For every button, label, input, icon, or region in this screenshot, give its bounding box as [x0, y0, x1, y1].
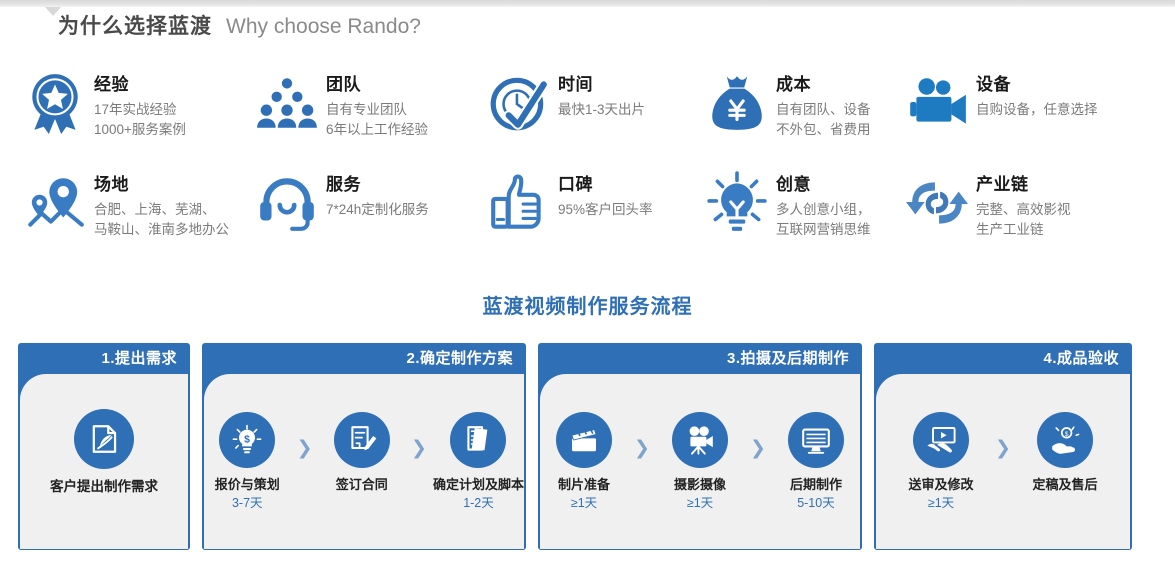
svg-text:$: $	[1065, 431, 1069, 438]
step-node-days: ≥1天	[571, 496, 597, 511]
step-node[interactable]: $ 定稿及售后	[1017, 412, 1113, 512]
money-bag-icon	[704, 70, 770, 136]
page-title-cn: 为什么选择蓝渡	[58, 10, 212, 40]
step-node-days: ≥1天	[928, 496, 954, 511]
svg-text:$: $	[244, 434, 250, 445]
step-node-days: 5-10天	[797, 496, 835, 511]
step-node-days: ≥1天	[687, 496, 713, 511]
headset-icon	[254, 170, 320, 236]
video-camera-icon	[904, 70, 970, 136]
step-node[interactable]: $ 报价与策划 3-7天	[204, 412, 291, 512]
clock-check-icon	[486, 70, 552, 136]
feature-item-industry-chain: 产业链 完整、高效影视 生产工业链	[904, 168, 1170, 264]
step-node[interactable]: 客户提出制作需求	[29, 409, 179, 514]
process-step-2: 2.确定制作方案 $ 报价与策划 3-7天	[202, 343, 526, 550]
feature-title: 场地	[94, 174, 229, 195]
contract-sign-icon	[334, 412, 390, 468]
step-node[interactable]: 送审及修改 ≥1天	[893, 412, 989, 512]
handshake-screen-icon	[913, 412, 969, 468]
feature-item-time: 时间 最快1-3天出片	[486, 68, 704, 168]
feature-item-experience: 经验 17年实战经验 1000+服务案例	[22, 68, 254, 168]
monitor-edit-icon	[788, 412, 844, 468]
feature-text: 服务 7*24h定制化服务	[326, 168, 429, 220]
feature-title: 时间	[558, 74, 645, 95]
feature-item-equipment: 设备 自购设备，任意选择	[904, 68, 1170, 168]
document-pen-icon	[74, 409, 134, 469]
feature-title: 经验	[94, 74, 186, 95]
step-node-label: 制片准备	[558, 477, 610, 494]
feature-desc: 17年实战经验 1000+服务案例	[94, 100, 186, 139]
step-header: 1.提出需求	[19, 344, 189, 374]
feature-grid: 经验 17年实战经验 1000+服务案例 团队 自有专业团队 6年以上工作经验	[22, 68, 1172, 264]
thumbs-up-icon	[486, 170, 552, 236]
feature-desc: 7*24h定制化服务	[326, 200, 429, 220]
feature-text: 设备 自购设备，任意选择	[976, 68, 1098, 120]
feature-title: 创意	[776, 174, 871, 195]
team-group-icon	[254, 70, 320, 136]
flow-section-title: 蓝渡视频制作服务流程	[0, 290, 1175, 319]
feature-title: 团队	[326, 74, 428, 95]
step-node-label: 摄影摄像	[674, 477, 726, 494]
chevron-right-icon: ❯	[634, 437, 650, 460]
page-title: 为什么选择蓝渡 Why choose Rando?	[58, 10, 421, 40]
feature-item-service: 服务 7*24h定制化服务	[254, 168, 486, 264]
step-header: 4.成品验收	[875, 344, 1131, 374]
step-node-label: 客户提出制作需求	[50, 478, 158, 496]
hand-reward-icon: $	[1037, 412, 1093, 468]
feature-text: 成本 自有团队、设备 不外包、省费用	[776, 68, 871, 139]
feature-desc: 完整、高效影视 生产工业链	[976, 200, 1071, 239]
feature-desc: 合肥、上海、芜湖、 马鞍山、淮南多地办公	[94, 200, 229, 239]
feature-text: 产业链 完整、高效影视 生产工业链	[976, 168, 1071, 239]
script-papers-icon	[450, 412, 506, 468]
step-node[interactable]: 确定计划及脚本 1-2天	[433, 412, 524, 512]
feature-item-reputation: 口碑 95%客户回头率	[486, 168, 704, 264]
step-node-label: 后期制作	[790, 477, 842, 494]
step-node-label: 送审及修改	[909, 477, 974, 494]
step-header: 3.拍摄及后期制作	[539, 344, 861, 374]
feature-text: 口碑 95%客户回头率	[558, 168, 653, 220]
feature-item-team: 团队 自有专业团队 6年以上工作经验	[254, 68, 486, 168]
feature-text: 时间 最快1-3天出片	[558, 68, 645, 120]
feature-desc: 自购设备，任意选择	[976, 100, 1098, 120]
step-node[interactable]: 后期制作 5-10天	[772, 412, 860, 512]
feature-desc: 自有专业团队 6年以上工作经验	[326, 100, 428, 139]
step-node[interactable]: 摄影摄像 ≥1天	[656, 412, 744, 512]
step-body: 制片准备 ≥1天 ❯ 摄影摄像 ≥1天 ❯	[540, 374, 860, 549]
step-body: 客户提出制作需求	[20, 374, 188, 549]
step-body: $ 报价与策划 3-7天 ❯ 签订合	[204, 374, 524, 549]
step-node-days: 1-2天	[463, 496, 494, 511]
medal-ribbon-icon	[22, 70, 88, 136]
step-node[interactable]: 制片准备 ≥1天	[540, 412, 628, 512]
feature-desc: 多人创意小组， 互联网营销思维	[776, 200, 871, 239]
feature-text: 经验 17年实战经验 1000+服务案例	[94, 68, 186, 139]
feature-text: 场地 合肥、上海、芜湖、 马鞍山、淮南多地办公	[94, 168, 229, 239]
feature-title: 服务	[326, 174, 429, 195]
feature-desc: 自有团队、设备 不外包、省费用	[776, 100, 871, 139]
step-node-label: 报价与策划	[215, 477, 280, 494]
idea-money-icon: $	[219, 412, 275, 468]
step-node-label: 定稿及售后	[1032, 477, 1097, 494]
chevron-right-icon: ❯	[411, 437, 427, 460]
recycle-arrows-icon	[904, 170, 970, 236]
step-body: 送审及修改 ≥1天 ❯ $ 定稿及售后	[876, 374, 1130, 549]
process-steps: 1.提出需求 客户提出制作需求 2.确定制作方案	[18, 343, 1132, 550]
top-band	[0, 0, 1175, 7]
feature-title: 成本	[776, 74, 871, 95]
film-camera-icon	[672, 412, 728, 468]
feature-title: 口碑	[558, 174, 653, 195]
process-step-4: 4.成品验收 送审及修改 ≥1天 ❯	[874, 343, 1132, 550]
feature-item-location: 场地 合肥、上海、芜湖、 马鞍山、淮南多地办公	[22, 168, 254, 264]
feature-title: 产业链	[976, 174, 1071, 195]
step-node-label: 确定计划及脚本	[433, 477, 524, 494]
feature-desc: 最快1-3天出片	[558, 100, 645, 120]
step-node-label: 签订合同	[336, 477, 388, 494]
feature-title: 设备	[976, 74, 1098, 95]
step-node[interactable]: 签订合同	[318, 412, 405, 512]
map-location-icon	[22, 170, 88, 236]
feature-text: 团队 自有专业团队 6年以上工作经验	[326, 68, 428, 139]
step-node-days: 3-7天	[232, 496, 263, 511]
chevron-right-icon: ❯	[995, 437, 1011, 460]
feature-text: 创意 多人创意小组， 互联网营销思维	[776, 168, 871, 239]
feature-item-creative: 创意 多人创意小组， 互联网营销思维	[704, 168, 904, 264]
feature-desc: 95%客户回头率	[558, 200, 653, 220]
clapperboard-icon	[556, 412, 612, 468]
process-step-3: 3.拍摄及后期制作 制片准备 ≥1天 ❯	[538, 343, 862, 550]
feature-item-cost: 成本 自有团队、设备 不外包、省费用	[704, 68, 904, 168]
chevron-right-icon: ❯	[297, 437, 313, 460]
lightbulb-idea-icon	[704, 170, 770, 236]
chevron-right-icon: ❯	[750, 437, 766, 460]
process-step-1: 1.提出需求 客户提出制作需求	[18, 343, 190, 550]
step-header: 2.确定制作方案	[203, 344, 525, 374]
page-title-en: Why choose Rando?	[226, 15, 421, 39]
